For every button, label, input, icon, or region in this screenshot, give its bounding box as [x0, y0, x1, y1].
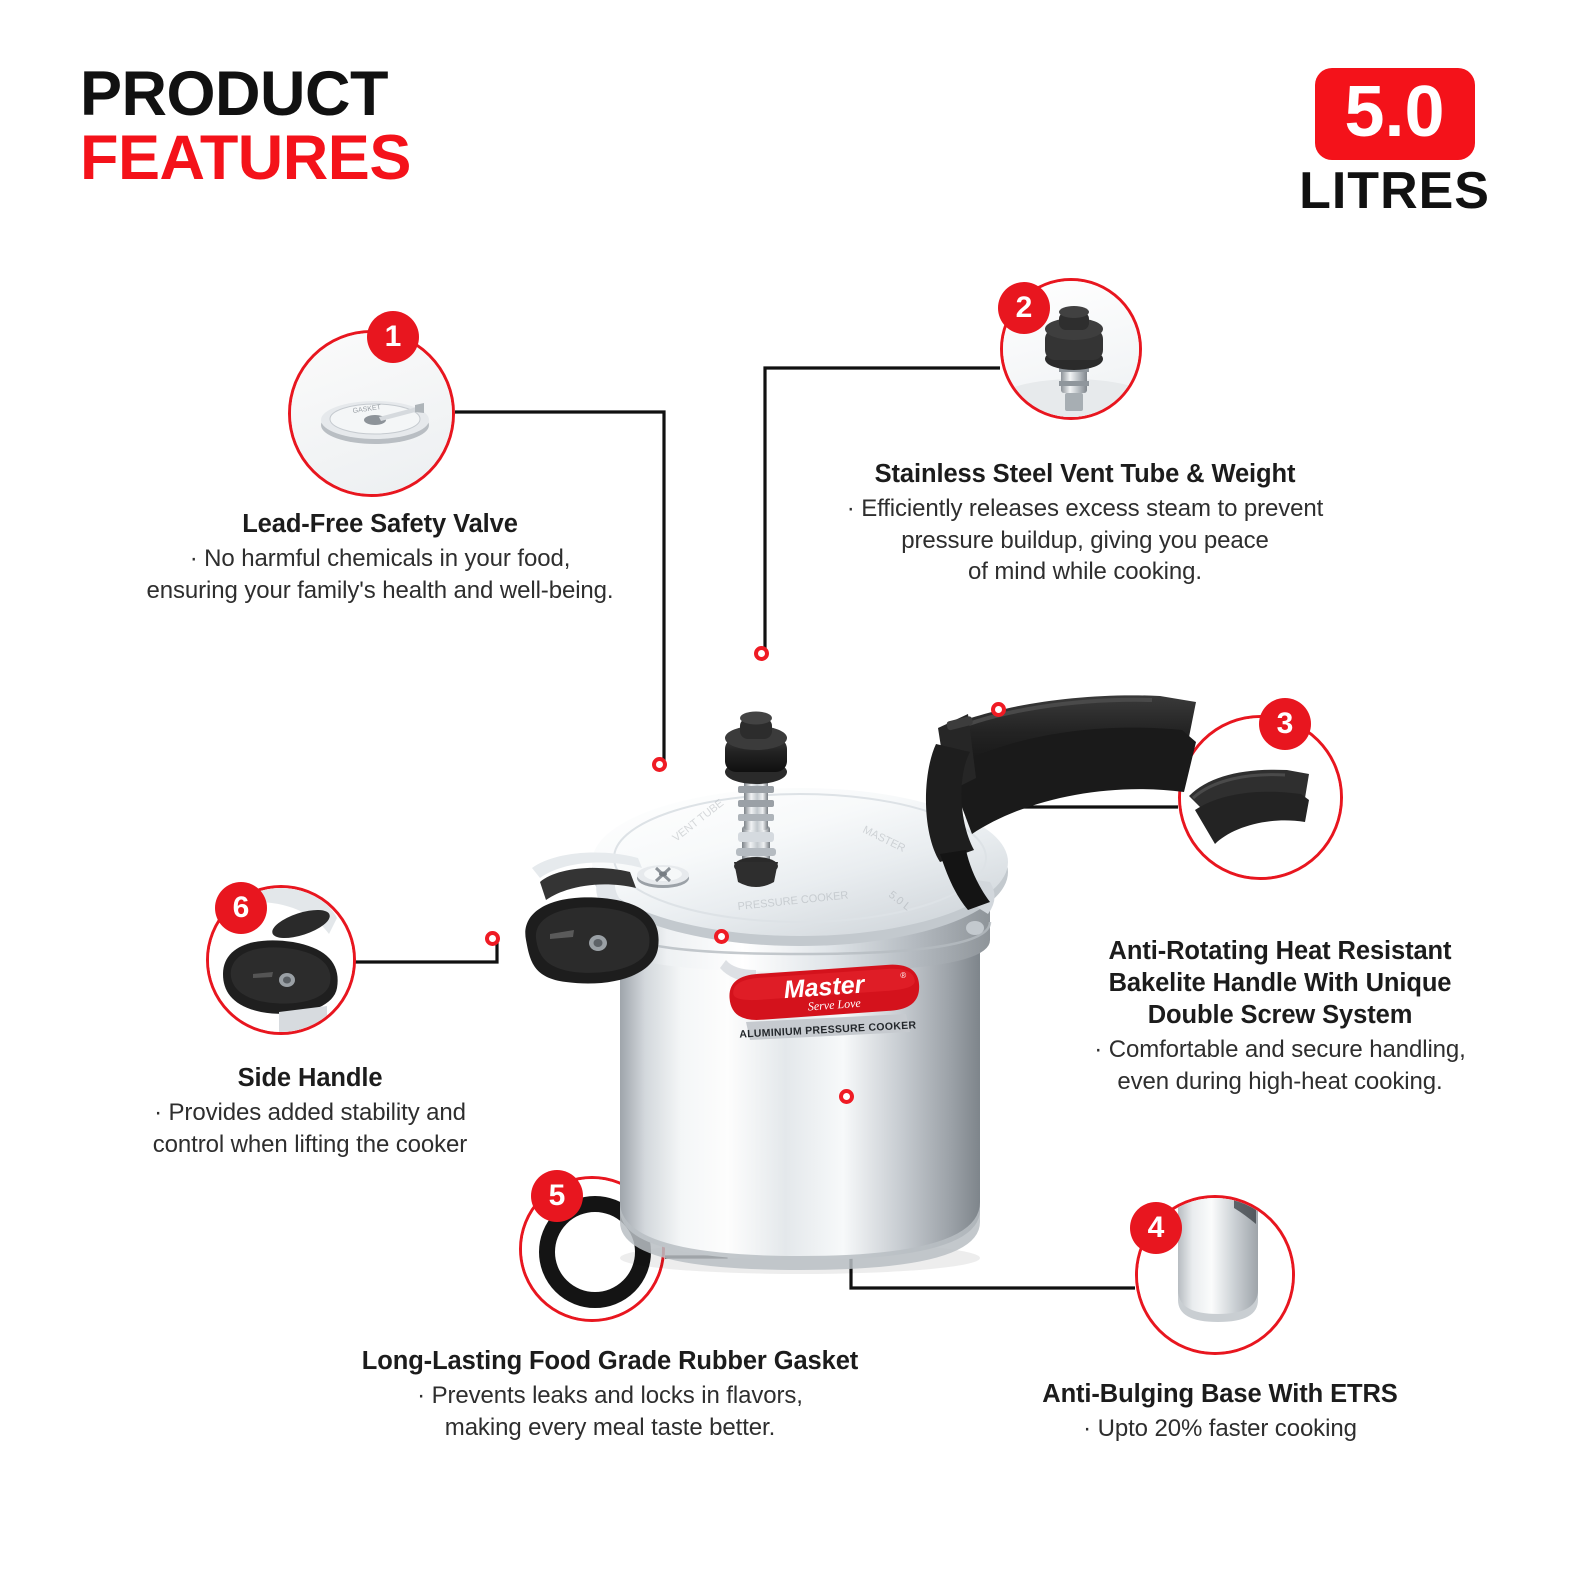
page-title: PRODUCT FEATURES: [80, 62, 411, 191]
feature-2-desc-line2: pressure buildup, giving you peace: [790, 525, 1380, 557]
anchor-dot-side-handle: [485, 931, 500, 946]
callout-circle-6: 6: [206, 885, 356, 1035]
safety-valve-icon: GASKET: [291, 333, 452, 494]
callout-number-2: 2: [998, 282, 1050, 334]
feature-1-title: Lead-Free Safety Valve: [60, 508, 700, 540]
feature-2-desc-line1: · Efficiently releases excess steam to p…: [790, 493, 1380, 525]
callout-circle-2: 2: [1000, 278, 1142, 420]
callout-number-4: 4: [1130, 1202, 1182, 1254]
feature-2-desc-line3: of mind while cooking.: [790, 556, 1380, 588]
feature-5-desc-line1: · Prevents leaks and locks in flavors,: [290, 1380, 930, 1412]
volume-chip: 5.0: [1315, 68, 1475, 160]
anchor-dot-body-rim: [714, 929, 729, 944]
feature-5-title: Long-Lasting Food Grade Rubber Gasket: [290, 1345, 930, 1377]
callout-1-image: GASKET: [291, 333, 452, 494]
feature-text-1: Lead-Free Safety Valve · No harmful chem…: [60, 508, 700, 606]
feature-5-desc-line2: making every meal taste better.: [290, 1412, 930, 1444]
page-title-line1: PRODUCT: [80, 62, 411, 126]
feature-1-desc-line2: ensuring your family's health and well-b…: [60, 575, 700, 607]
feature-text-5: Long-Lasting Food Grade Rubber Gasket · …: [290, 1345, 930, 1443]
callout-number-3: 3: [1259, 698, 1311, 750]
infographic-canvas: PRODUCT FEATURES 5.0 LITRES: [0, 0, 1576, 1575]
anchor-dot-main-handle: [991, 702, 1006, 717]
callout-circle-1: GASKET 1: [288, 330, 455, 497]
volume-value: 5.0: [1345, 76, 1445, 148]
page-title-line2: FEATURES: [80, 126, 411, 190]
feature-4-title: Anti-Bulging Base With ETRS: [940, 1378, 1500, 1410]
brand-label-group: Master ® Serve Love ALUMINIUM PRESSURE C…: [728, 963, 921, 1041]
anchor-dot-vent-weight: [754, 646, 769, 661]
callout-number-1: 1: [367, 311, 419, 363]
volume-unit: LITRES: [1299, 164, 1490, 219]
feature-1-desc-line1: · No harmful chemicals in your food,: [60, 543, 700, 575]
anchor-dot-safety-valve: [652, 757, 667, 772]
volume-badge: 5.0 LITRES: [1299, 68, 1490, 219]
feature-text-4: Anti-Bulging Base With ETRS · Upto 20% f…: [940, 1378, 1500, 1445]
anchor-dot-body-lower: [839, 1089, 854, 1104]
feature-4-desc-line1: · Upto 20% faster cooking: [940, 1413, 1500, 1445]
feature-2-title: Stainless Steel Vent Tube & Weight: [790, 458, 1380, 490]
callout-number-6: 6: [215, 882, 267, 934]
callout-number-5: 5: [531, 1170, 583, 1222]
svg-text:®: ®: [900, 971, 907, 980]
feature-text-2: Stainless Steel Vent Tube & Weight · Eff…: [790, 458, 1380, 588]
